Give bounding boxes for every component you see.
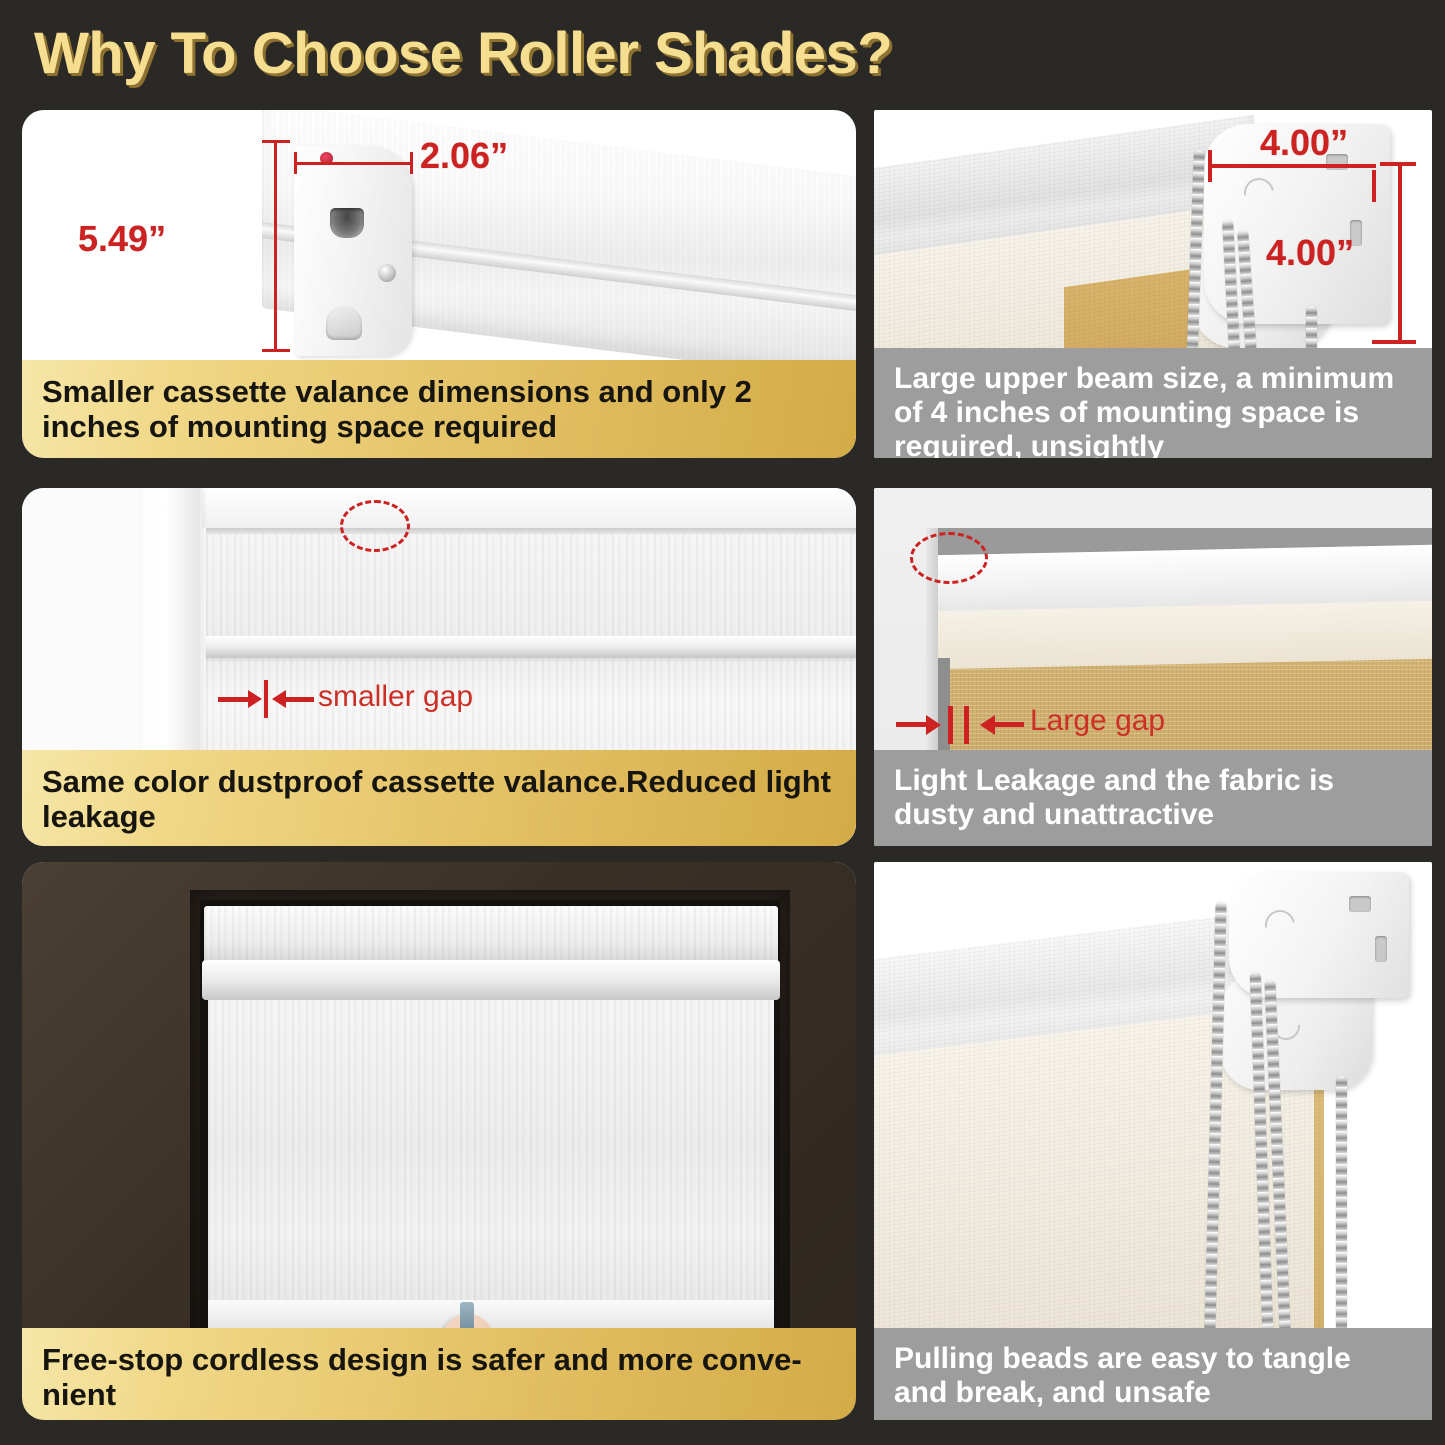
dim-line-horizontal [294, 162, 412, 165]
panel-caption: Same color dustproof cassette valance.Re… [22, 750, 856, 846]
panel-pulling-beads-unsafe: Pulling beads are easy to tangle and bre… [874, 862, 1432, 1420]
panel-caption: Free-stop cordless design is safer and m… [22, 1328, 856, 1420]
bracket-slot [330, 208, 364, 238]
gap-arrow-left-head [248, 690, 262, 708]
gap-marker-line [264, 680, 268, 718]
window-frame-top [142, 488, 856, 528]
release-knob [326, 306, 362, 340]
panel-large-gap-light-leakage: Large gap Light Leakage and the fabric i… [874, 488, 1432, 846]
dim-tick-bottom [262, 349, 290, 352]
gap-marker-line-a [948, 706, 953, 744]
valance-texture [204, 906, 778, 966]
bracket-notch-a [1349, 896, 1371, 912]
highlight-circle [340, 500, 410, 552]
panel-caption: Smaller cassette valance dimensions and … [22, 360, 856, 458]
panel-caption: Large upper beam size, a minimum of 4 in… [874, 348, 1432, 458]
dim-line-vertical [274, 140, 277, 352]
panel-cassette-valance-dimensions: 2.06” 5.49” Smaller cassette valance dim… [22, 110, 856, 458]
gap-arrow-right-shaft [284, 697, 314, 702]
infographic-root: Why To Choose Roller Shades? 2.06” 5.49”… [0, 0, 1445, 1445]
panel-cordless-free-stop: Free-stop cordless design is safer and m… [22, 862, 856, 1420]
shade-fabric [208, 998, 774, 1334]
panel-upper-beam-dimensions: 4.00” 4.00” Large upper beam size, a min… [874, 110, 1432, 458]
gap-arrow-right-head [980, 715, 995, 735]
bracket-notch-b [1375, 936, 1387, 962]
highlight-circle [910, 532, 988, 584]
dimension-label-height: 5.49” [78, 218, 166, 260]
beam-label-height: 4.00” [1266, 232, 1354, 274]
dim-tick-top [262, 140, 290, 143]
shade-texture [208, 998, 774, 1334]
beam-label-width: 4.00” [1260, 122, 1348, 164]
gap-arrow-left-shaft [896, 722, 930, 727]
valance-end-cap [294, 146, 412, 356]
cassette-valance [204, 906, 778, 966]
shade-mid-rail [206, 636, 856, 658]
gap-arrow-left-head [926, 715, 941, 735]
screw-icon [378, 264, 396, 282]
beam-dim-tick-top [1380, 162, 1416, 166]
beam-dim-tick-right [1372, 170, 1376, 202]
dim-tick-right [410, 152, 413, 174]
gap-arrow-right-head [272, 690, 286, 708]
bracket-emboss-icon [1238, 172, 1280, 214]
cream-band [938, 601, 1432, 669]
valance-lower-lip [202, 960, 780, 1000]
gap-arrow-left-shaft [218, 697, 252, 702]
beam-dim-horizontal [1208, 164, 1376, 168]
panel-smaller-gap-dustproof: smaller gap Same color dustproof cassett… [22, 488, 856, 846]
gap-arrow-right-shaft [994, 722, 1024, 727]
beam-dim-tick-left [1208, 150, 1212, 182]
panel-caption: Light Leakage and the fabric is dusty an… [874, 750, 1432, 846]
bead-chain-right [1336, 1076, 1347, 1332]
dimension-label-width: 2.06” [420, 135, 508, 177]
page-title: Why To Choose Roller Shades? [34, 20, 892, 87]
gap-label: smaller gap [318, 680, 473, 714]
bracket-emboss-icon [1259, 904, 1301, 946]
dim-tick-left [294, 152, 297, 174]
beam-dim-vertical [1398, 162, 1402, 344]
panel-caption: Pulling beads are easy to tangle and bre… [874, 1328, 1432, 1420]
gap-marker-line-b [964, 706, 969, 744]
gap-label: Large gap [1030, 704, 1165, 738]
beam-dim-tick-bottom [1372, 340, 1416, 344]
